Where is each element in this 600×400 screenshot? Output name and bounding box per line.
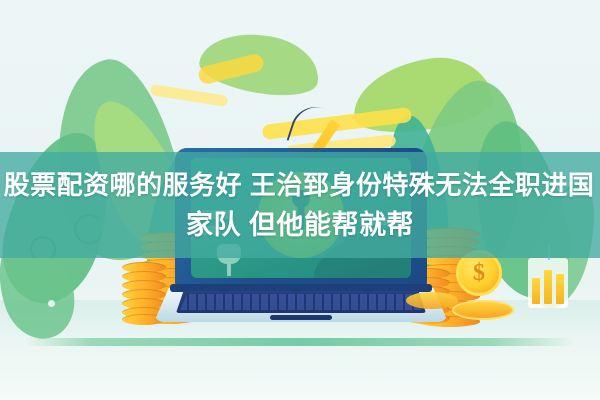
article-banner: $ 股票配资哪的服务好 王治郅身份特殊无法全职进国 家队 但他能帮就帮 [0, 0, 600, 400]
headline-text-block: 股票配资哪的服务好 王治郅身份特殊无法全职进国 家队 但他能帮就帮 [0, 152, 600, 258]
gold-coin [452, 300, 514, 320]
laptop-trackpad [270, 315, 332, 320]
headline-line-1: 股票配资哪的服务好 王治郅身份特殊无法全职进国 [4, 165, 595, 205]
chart-bar [556, 274, 564, 304]
chart-bar [544, 270, 552, 304]
laptop-hinge [170, 284, 432, 292]
dot-decoration [48, 300, 55, 307]
chart-bars [528, 264, 568, 304]
chart-bar [532, 278, 540, 304]
desk-edge-line [25, 338, 575, 346]
keyboard-keys [180, 294, 422, 310]
accent-streak [150, 84, 229, 107]
headline-line-2: 家队 但他能帮就帮 [186, 205, 414, 245]
bar-chart-card [528, 258, 568, 308]
gold-coin [406, 292, 458, 309]
